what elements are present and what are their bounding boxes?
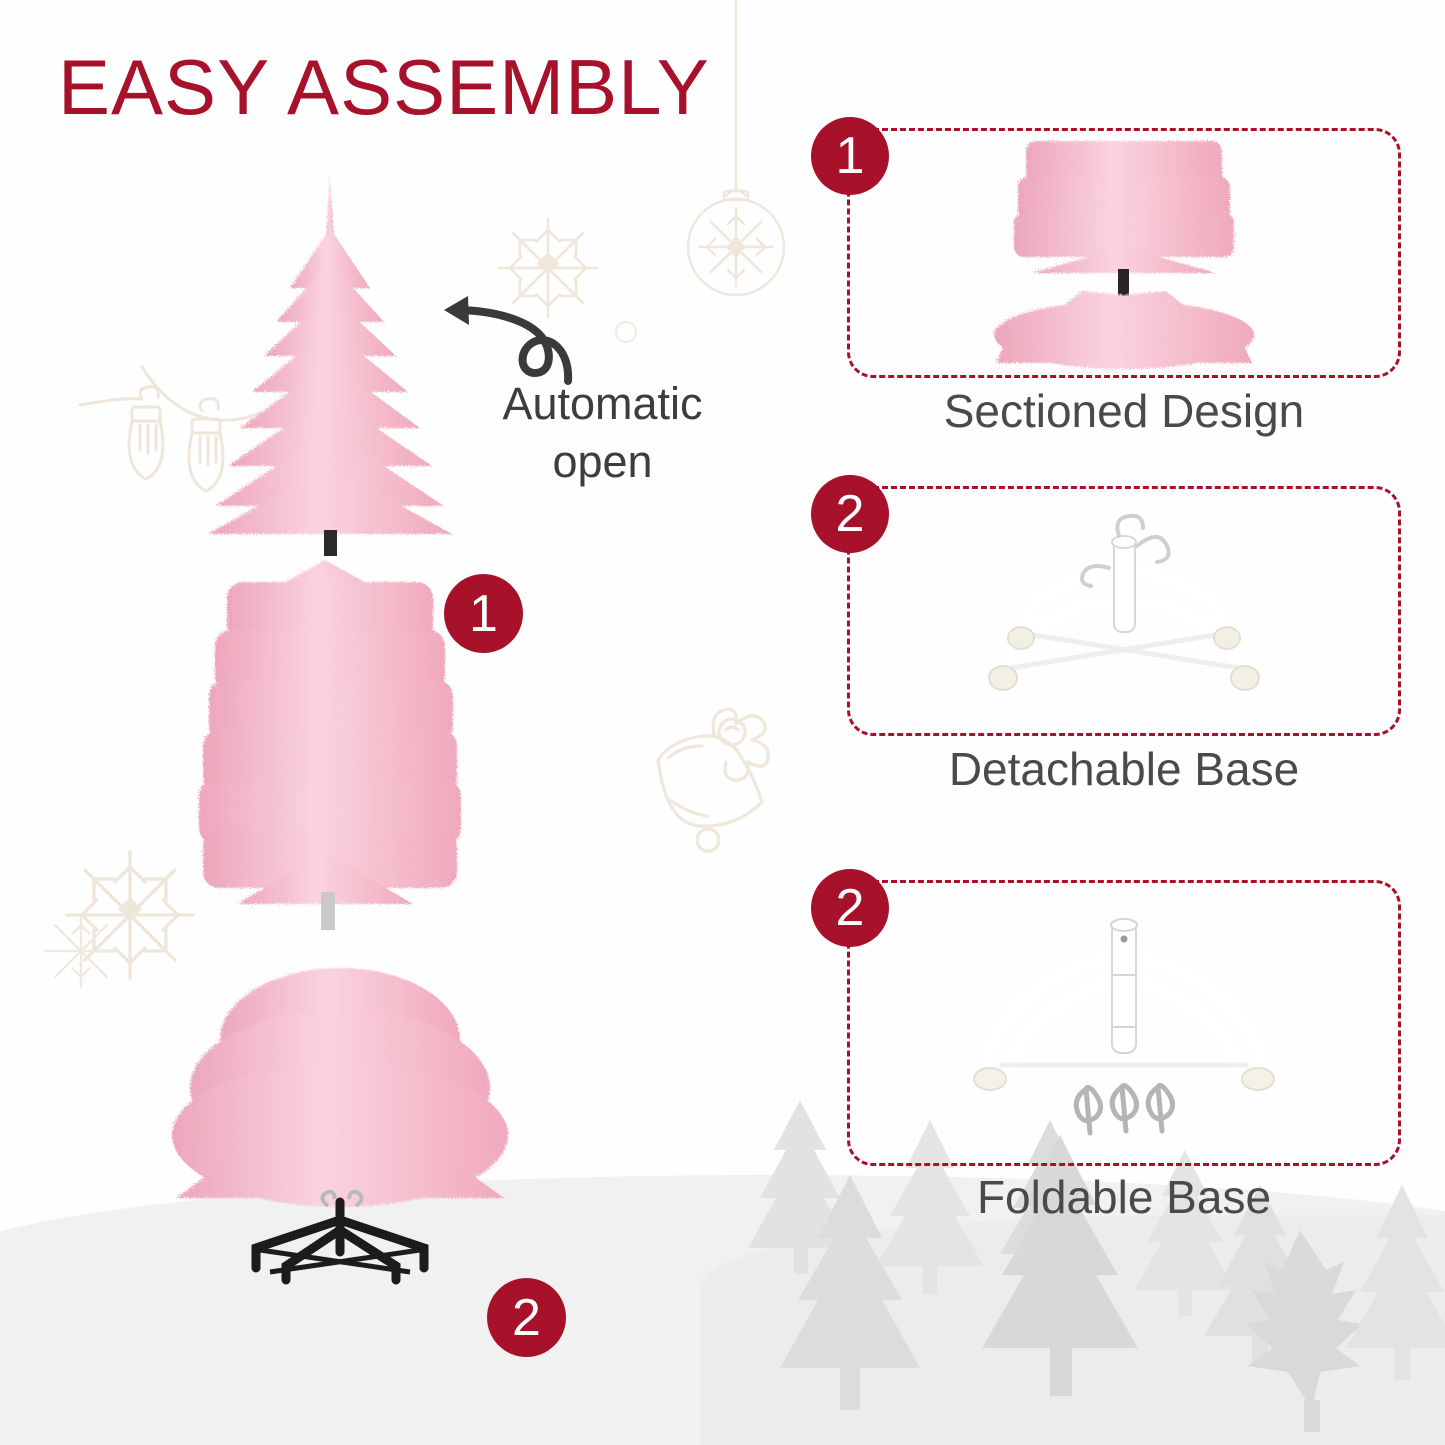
automatic-open-line1: Automatic — [470, 375, 735, 433]
panel-caption-detachable-base: Detachable Base — [847, 744, 1401, 795]
panel-art-detachable-base — [847, 486, 1401, 736]
tree-stand-open-icon — [959, 506, 1289, 716]
panel-badge-3: 2 — [811, 869, 889, 947]
pink-tree-top-art — [180, 170, 490, 570]
snowflake-icon-small — [35, 905, 127, 997]
panel-badge-1: 1 — [811, 117, 889, 195]
step-badge-2: 2 — [487, 1278, 566, 1357]
bell-icon — [640, 690, 815, 865]
step-badge-1: 1 — [444, 574, 523, 653]
page-title: EASY ASSEMBLY — [58, 48, 710, 126]
panel-art-sectioned-design — [847, 128, 1401, 378]
panel-caption-foldable-base: Foldable Base — [847, 1172, 1401, 1223]
panel-badge-2: 2 — [811, 475, 889, 553]
tree-section-bottom — [160, 930, 520, 1290]
panel-art-foldable-base — [847, 880, 1401, 1166]
tree-stand-folded-icon — [914, 893, 1334, 1153]
panel-caption-sectioned-design: Sectioned Design — [847, 386, 1401, 437]
automatic-open-label: Automatic open — [470, 375, 735, 490]
infographic-canvas: EASY ASSEMBLY Automatic open — [0, 0, 1445, 1445]
tree-section-top — [180, 170, 490, 570]
tree-sections-separated-icon — [974, 135, 1274, 371]
automatic-open-line2: open — [470, 433, 735, 491]
pink-tree-bottom-art — [160, 930, 520, 1290]
decor-circle-small — [613, 319, 639, 345]
ground-hill-shape-secondary — [700, 1215, 1445, 1445]
